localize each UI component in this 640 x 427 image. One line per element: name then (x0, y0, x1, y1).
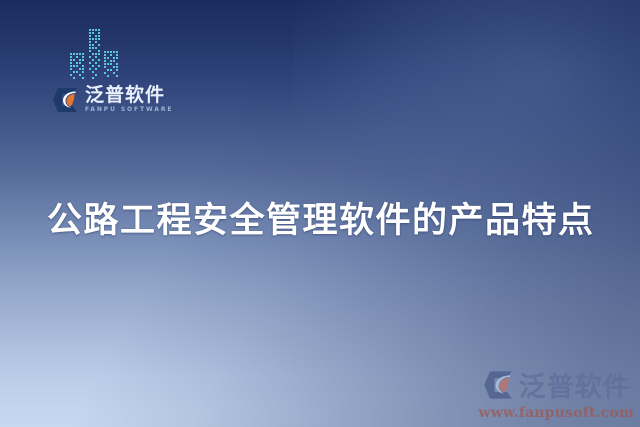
page-title: 公路工程安全管理软件的产品特点 (47, 192, 595, 243)
site-watermark: 泛普软件 www.fanpusoft.com (478, 365, 634, 421)
brand-name-en: FANPU SOFTWARE (85, 107, 173, 113)
watermark-url: www.fanpusoft.com (478, 405, 634, 421)
brand-text: 泛普软件 FANPU SOFTWARE (85, 86, 173, 113)
brand-name-cn: 泛普软件 (85, 86, 173, 105)
watermark-name-cn: 泛普软件 (519, 365, 631, 404)
watermark-logo-row: 泛普软件 (482, 365, 631, 404)
dotted-city-skyline-icon (66, 27, 124, 85)
fanpu-watermark-mark-icon (482, 370, 515, 400)
brand-logo: 泛普软件 FANPU SOFTWARE (51, 86, 173, 113)
fanpu-logo-mark-icon (51, 87, 80, 113)
promo-banner: 泛普软件 FANPU SOFTWARE 公路工程安全管理软件的产品特点 泛普软件… (0, 0, 640, 427)
